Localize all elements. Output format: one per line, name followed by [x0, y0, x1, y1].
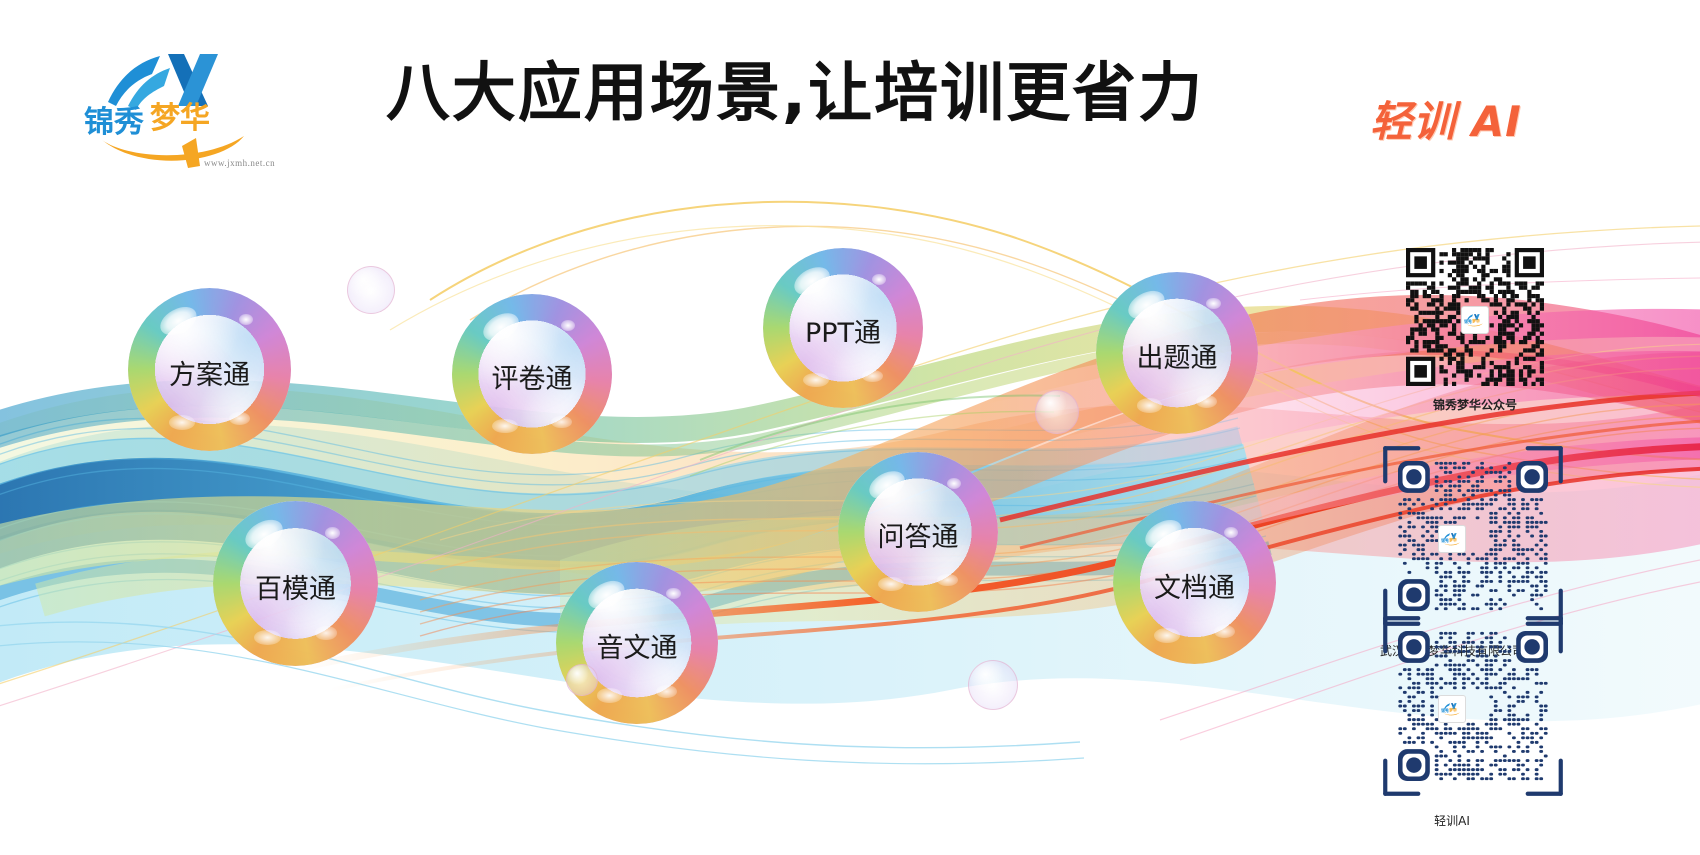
logo-mark: 锦秀 梦华: [72, 40, 282, 170]
svg-text:梦华: 梦华: [1472, 318, 1480, 323]
bubble-highlight: [1154, 628, 1180, 643]
bubble-highlight: [803, 373, 829, 387]
feature-bubble[interactable]: 文档通: [1113, 501, 1276, 664]
page-title: 八大应用场景,让培训更省力: [330, 62, 1260, 126]
feature-bubble[interactable]: 评卷通: [452, 294, 612, 454]
feature-bubble[interactable]: PPT通: [763, 248, 923, 408]
feature-bubble[interactable]: 方案通: [128, 288, 291, 451]
logo-website-url: www.jxmh.net.cn: [204, 158, 275, 168]
product-brand-name: 轻训 AI: [1370, 88, 1522, 149]
bubble-highlight: [325, 527, 340, 539]
svg-text:锦秀: 锦秀: [1441, 538, 1449, 543]
qr-code-block[interactable]: 锦秀梦华轻训AI: [1377, 610, 1527, 829]
bubble-highlight: [1206, 298, 1221, 309]
svg-text:梦华: 梦华: [1449, 537, 1457, 542]
bubble-highlight: [1214, 625, 1235, 638]
svg-text:梦华: 梦华: [1449, 707, 1457, 712]
svg-text:锦秀: 锦秀: [1441, 708, 1449, 713]
bubble-highlight: [229, 412, 250, 425]
feature-bubble-label: PPT通: [763, 311, 923, 350]
qr-code-block[interactable]: 锦秀梦华锦秀梦华公众号: [1406, 248, 1544, 413]
decorative-bubble: [566, 664, 598, 696]
feature-bubble-label: 评卷通: [452, 357, 612, 396]
bubble-highlight: [315, 626, 336, 639]
qr-center-logo-icon: 锦秀梦华: [1461, 306, 1489, 334]
feature-bubble-label: 问答通: [838, 515, 998, 554]
bubble-highlight: [947, 478, 961, 489]
feature-bubble[interactable]: 出题通: [1096, 272, 1258, 434]
bubble-highlight: [561, 320, 575, 331]
bubble-highlight: [169, 415, 195, 430]
bubble-highlight: [597, 688, 623, 703]
svg-text:锦秀: 锦秀: [84, 105, 144, 140]
qr-code-image[interactable]: 锦秀梦华: [1377, 610, 1527, 807]
feature-bubble-label: 百模通: [213, 567, 378, 606]
company-logo: 锦秀 梦华 www.jxmh.net.cn: [72, 40, 282, 170]
bubble-highlight: [872, 274, 886, 285]
feature-bubble-label: 音文通: [556, 626, 718, 665]
svg-text:梦华: 梦华: [150, 101, 210, 136]
bubble-highlight: [1137, 398, 1163, 413]
qr-code-caption: 轻训AI: [1377, 812, 1527, 829]
qr-center-logo-icon: 锦秀梦华: [1438, 695, 1466, 723]
bubble-highlight: [878, 577, 904, 591]
decorative-bubble: [968, 660, 1018, 710]
feature-bubble[interactable]: 音文通: [556, 562, 718, 724]
feature-bubble-label: 文档通: [1113, 566, 1276, 605]
feature-bubble-label: 方案通: [128, 353, 291, 392]
qr-code-image[interactable]: 锦秀梦华: [1406, 248, 1544, 391]
poster-canvas: 锦秀 梦华 www.jxmh.net.cn 八大应用场景,让培训更省力 轻训 A…: [0, 0, 1700, 855]
qr-center-logo-icon: 锦秀梦华: [1438, 525, 1466, 553]
decorative-bubble: [347, 266, 395, 314]
feature-bubble[interactable]: 问答通: [838, 452, 998, 612]
decorative-bubble: [1035, 390, 1079, 434]
bubble-highlight: [492, 419, 518, 433]
feature-bubble-label: 出题通: [1096, 336, 1258, 375]
feature-bubble[interactable]: 百模通: [213, 501, 378, 666]
svg-text:锦秀: 锦秀: [1464, 319, 1472, 324]
qr-code-image[interactable]: 锦秀梦华: [1377, 440, 1527, 637]
bubble-highlight: [666, 588, 681, 599]
bubble-highlight: [254, 630, 280, 645]
qr-code-caption: 锦秀梦华公众号: [1406, 396, 1544, 413]
